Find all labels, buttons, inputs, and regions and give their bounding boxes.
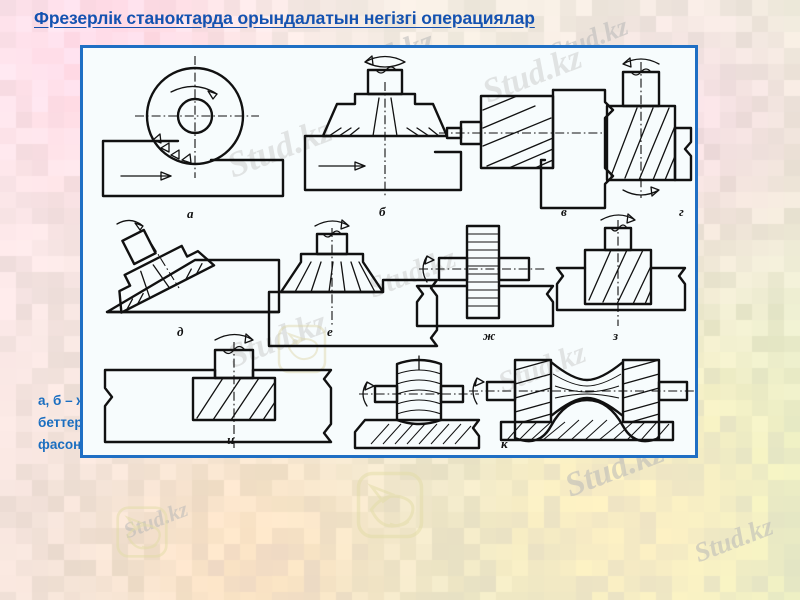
panel-label-a: а xyxy=(187,206,194,221)
panel-label-i: и xyxy=(227,432,234,447)
panel-label-k: к xyxy=(501,436,508,451)
panel-label-g: г xyxy=(679,204,684,219)
panel-label-b: б xyxy=(379,204,386,219)
panel-label-d: д xyxy=(177,324,184,339)
figure-frame: Stud.kz Stud.kz Stud.kz Stud.kz Stud.kz xyxy=(80,45,698,458)
panel-label-v: в xyxy=(561,204,567,219)
panel-label-zh: ж xyxy=(483,328,496,343)
panel-label-e: е xyxy=(327,324,333,339)
milling-operations-figure: Stud.kz Stud.kz Stud.kz Stud.kz Stud.kz xyxy=(83,48,695,455)
panel-label-z: з xyxy=(612,328,618,343)
page-title: Фрезерлік станоктарда орындалатын негізг… xyxy=(34,8,535,29)
